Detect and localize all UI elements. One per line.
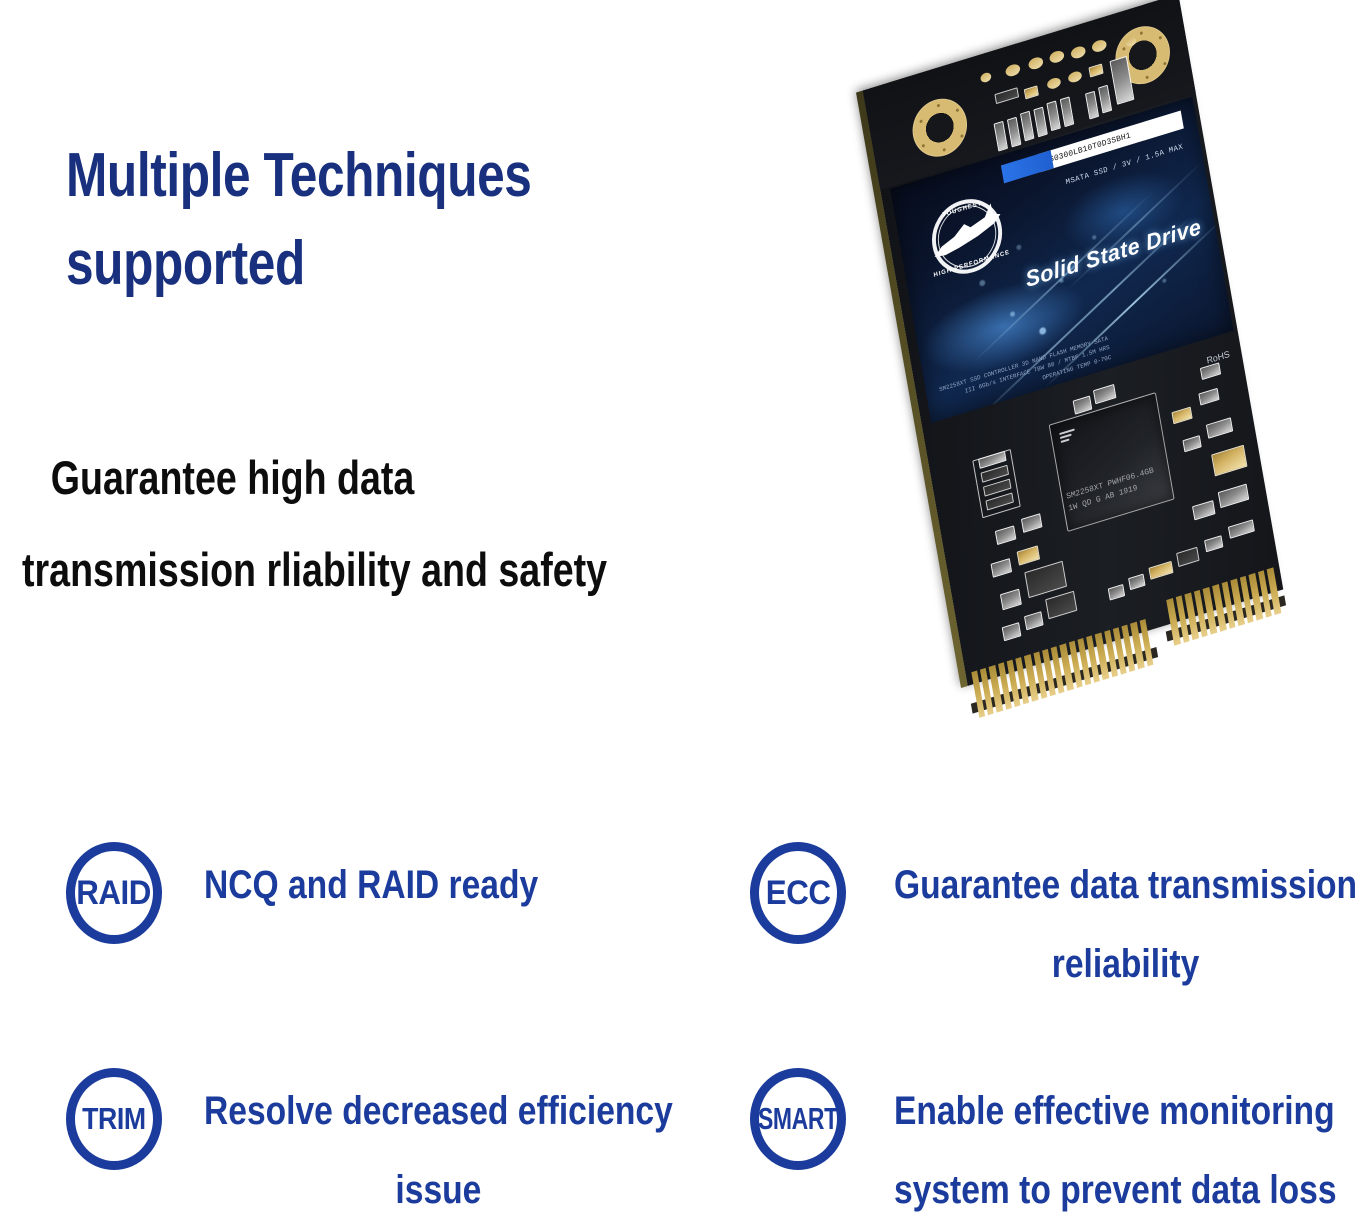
label-bokeh-dot bbox=[979, 279, 986, 287]
mounting-hole-right bbox=[908, 92, 971, 164]
smd-component bbox=[1085, 91, 1099, 120]
smd-component bbox=[1007, 117, 1021, 148]
feature-line: Resolve decreased efficiency bbox=[204, 1072, 673, 1151]
subtitle-line-1: Guarantee high data bbox=[22, 432, 710, 524]
feature-item-trim[interactable]: TRIM Resolve decreased efficiency issue bbox=[58, 1062, 718, 1230]
chip-vendor-logo bbox=[1059, 428, 1076, 445]
label-bokeh-dot bbox=[1092, 235, 1097, 240]
smd-component bbox=[1046, 101, 1060, 132]
shark-emblem-icon: TOUGHEST HIGH PERFORMANCE bbox=[920, 182, 1015, 290]
feature-line: NCQ and RAID ready bbox=[204, 846, 636, 925]
gold-via-pad bbox=[980, 71, 992, 83]
gold-via-pad bbox=[1070, 45, 1086, 60]
subtitle-text: Guarantee high data transmission rliabil… bbox=[22, 432, 710, 615]
badge-label: SMART bbox=[742, 1068, 854, 1170]
gold-via-pad bbox=[1005, 63, 1021, 78]
badge-label: TRIM bbox=[58, 1068, 170, 1170]
smd-component bbox=[1098, 85, 1112, 114]
smd-component bbox=[1024, 85, 1039, 99]
feature-text-ecc: Guarantee data transmission reliability bbox=[894, 836, 1356, 1004]
raid-badge-icon: RAID bbox=[58, 842, 170, 946]
feature-text-trim: Resolve decreased efficiency issue bbox=[204, 1062, 673, 1230]
feature-item-ecc[interactable]: ECC Guarantee data transmission reliabil… bbox=[742, 836, 1356, 1004]
smd-component bbox=[1088, 63, 1103, 77]
badge-label: RAID bbox=[58, 842, 170, 944]
smd-component bbox=[1033, 107, 1047, 138]
page-title: Multiple Techniques supported bbox=[66, 132, 578, 308]
label-bokeh-dot bbox=[1016, 244, 1022, 250]
gold-via-pad bbox=[1067, 70, 1082, 84]
feature-line: reliability bbox=[894, 925, 1356, 1004]
gold-via-pad bbox=[1091, 38, 1107, 53]
label-bokeh-dot bbox=[1039, 326, 1047, 335]
feature-line: Guarantee data transmission bbox=[894, 846, 1356, 925]
smd-component bbox=[994, 87, 1019, 104]
feature-line: Enable effective monitoring bbox=[894, 1072, 1337, 1151]
feature-line: system to prevent data loss bbox=[894, 1151, 1337, 1230]
smart-badge-icon: SMART bbox=[742, 1068, 854, 1172]
trim-badge-icon: TRIM bbox=[58, 1068, 170, 1172]
gold-via-pad bbox=[1049, 49, 1065, 64]
subtitle-line-2: transmission rliability and safety bbox=[22, 524, 710, 616]
ecc-badge-icon: ECC bbox=[742, 842, 854, 946]
gold-via-pad bbox=[1046, 76, 1061, 90]
feature-item-raid[interactable]: RAID NCQ and RAID ready bbox=[58, 836, 718, 946]
feature-line: issue bbox=[204, 1151, 673, 1230]
smd-component bbox=[994, 121, 1008, 152]
ssd-board: SM2258XT PWHF06.4GB 1W QD G AB 1919 SM22… bbox=[863, 0, 1284, 686]
feature-text-smart: Enable effective monitoring system to pr… bbox=[894, 1062, 1337, 1230]
smd-component bbox=[1020, 111, 1034, 142]
badge-label: ECC bbox=[742, 842, 854, 944]
gold-via-pad bbox=[1028, 56, 1044, 71]
feature-text-raid: NCQ and RAID ready bbox=[204, 836, 636, 925]
smd-component bbox=[1060, 96, 1074, 127]
page-title-line-2: supported bbox=[66, 220, 578, 308]
label-product-name: Solid State Drive bbox=[1024, 214, 1204, 293]
product-image-ssd: SM2258XT PWHF06.4GB 1W QD G AB 1919 SM22… bbox=[812, 0, 1356, 698]
product-feature-panel: Multiple Techniques supported Guarantee … bbox=[0, 0, 1356, 1229]
feature-list: RAID NCQ and RAID ready ECC Guarantee da… bbox=[0, 822, 1356, 1229]
serial-blue-bar bbox=[1001, 150, 1054, 183]
feature-item-smart[interactable]: SMART Enable effective monitoring system… bbox=[742, 1062, 1356, 1230]
label-bokeh-dot bbox=[1010, 311, 1016, 317]
page-title-line-1: Multiple Techniques bbox=[66, 141, 531, 210]
label-bokeh-dot bbox=[1162, 278, 1167, 283]
